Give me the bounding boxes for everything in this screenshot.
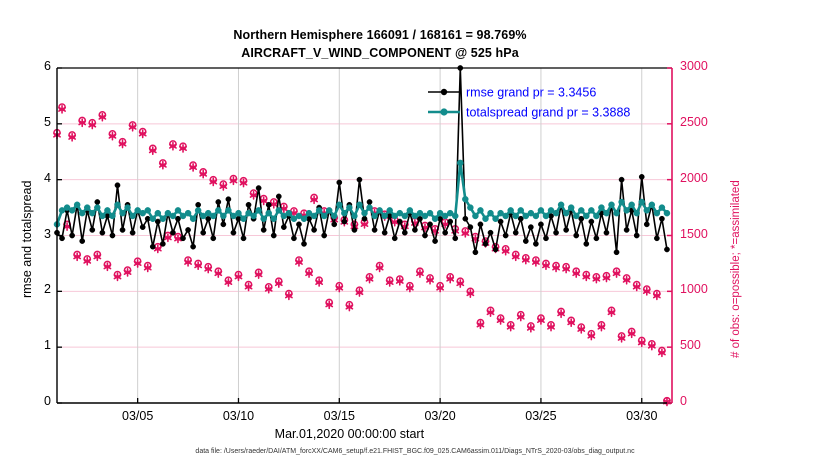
y-tick-label: 0 [11,394,51,408]
y2-tick-label: 0 [680,394,728,408]
x-tick-label: 03/10 [203,409,273,423]
y2-tick-label: 1500 [680,227,728,241]
x-tick-label: 03/15 [304,409,374,423]
x-axis-caption: Mar.01,2020 00:00:00 start [149,427,549,441]
y2-tick-label: 1000 [680,282,728,296]
y2-axis-label: # of obs: o=possible; *=assimilated [730,180,742,358]
data-file-footer: data file: /Users/raeder/DAI/ATM_forcXX/… [0,448,830,455]
legend-label: totalspread grand pr = 3.3888 [466,106,630,120]
y2-tick-label: 500 [680,338,728,352]
y2-tick-label: 2000 [680,171,728,185]
y-tick-label: 1 [11,338,51,352]
y-tick-label: 3 [11,227,51,241]
y-tick-label: 6 [11,59,51,73]
x-tick-label: 03/20 [405,409,475,423]
figure-container: Northern Hemisphere 166091 / 168161 = 98… [0,0,830,470]
y-tick-label: 5 [11,115,51,129]
obs-markers-group [54,104,670,406]
y2-tick-label: 3000 [680,59,728,73]
legend-label: rmse grand pr = 3.3456 [466,86,596,100]
y2-tick-label: 2500 [680,115,728,129]
y-tick-label: 2 [11,282,51,296]
x-tick-label: 03/30 [607,409,677,423]
y-tick-label: 4 [11,171,51,185]
x-tick-label: 03/25 [506,409,576,423]
x-tick-label: 03/05 [103,409,173,423]
